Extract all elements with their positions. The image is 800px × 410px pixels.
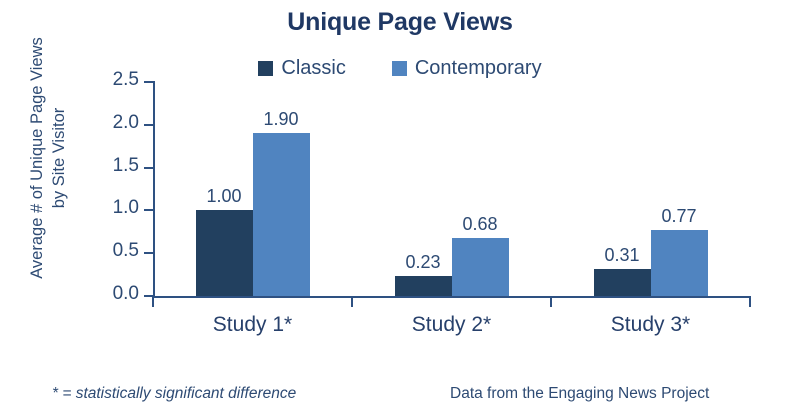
bar-value-label: 1.90 <box>263 109 298 130</box>
y-axis-tick-label: 2.5 <box>113 69 139 91</box>
chart-title: Unique Page Views <box>0 8 800 37</box>
bar-value-label: 0.31 <box>604 245 639 266</box>
legend-item-classic: Classic <box>258 58 345 78</box>
bar-value-label: 0.77 <box>661 206 696 227</box>
y-axis-title-line-1: Average # of Unique Page Views <box>26 37 48 279</box>
x-axis-label-study-3: Study 3* <box>551 313 750 337</box>
y-axis-tick-label: 2.0 <box>113 112 139 134</box>
y-axis-tick-label: 0.5 <box>113 240 139 262</box>
bar-contemporary-study-1: 1.90 <box>253 133 310 296</box>
x-axis-line <box>153 296 751 298</box>
y-axis-tick <box>144 252 153 254</box>
x-axis-tick <box>152 296 154 307</box>
bar-value-label: 1.00 <box>206 186 241 207</box>
legend-swatch-contemporary <box>392 61 407 76</box>
bar-value-label: 0.68 <box>462 214 497 235</box>
x-axis-tick <box>351 296 353 307</box>
bar-classic-study-2: 0.23 <box>395 276 452 296</box>
y-axis-tick <box>144 209 153 211</box>
legend-label-classic: Classic <box>281 58 345 78</box>
bar-value-label: 0.23 <box>405 252 440 273</box>
y-axis-tick <box>144 124 153 126</box>
y-axis-tick-label: 0.0 <box>113 283 139 305</box>
x-axis-label-study-1: Study 1* <box>153 313 352 337</box>
x-axis-tick <box>550 296 552 307</box>
legend-swatch-classic <box>258 61 273 76</box>
bar-classic-study-3: 0.31 <box>594 269 651 296</box>
y-axis-tick-label: 1.5 <box>113 155 139 177</box>
bar-contemporary-study-3: 0.77 <box>651 230 708 296</box>
y-axis-tick-label: 1.0 <box>113 197 139 219</box>
y-axis-title: Average # of Unique Page Views by Site V… <box>18 0 78 338</box>
footnote-data-source: Data from the Engaging News Project <box>450 385 709 403</box>
legend-label-contemporary: Contemporary <box>415 58 542 78</box>
x-axis-label-study-2: Study 2* <box>352 313 551 337</box>
legend-item-contemporary: Contemporary <box>392 58 542 78</box>
bar-contemporary-study-2: 0.68 <box>452 238 509 296</box>
footnote-significance: * = statistically significant difference <box>52 385 296 403</box>
bar-classic-study-1: 1.00 <box>196 210 253 296</box>
plot-area: 1.001.900.230.680.310.77 <box>153 82 750 296</box>
y-axis-tick <box>144 81 153 83</box>
x-axis-tick <box>749 296 751 307</box>
y-axis-tick <box>144 167 153 169</box>
y-axis-title-line-2: by Site Visitor <box>48 108 70 209</box>
